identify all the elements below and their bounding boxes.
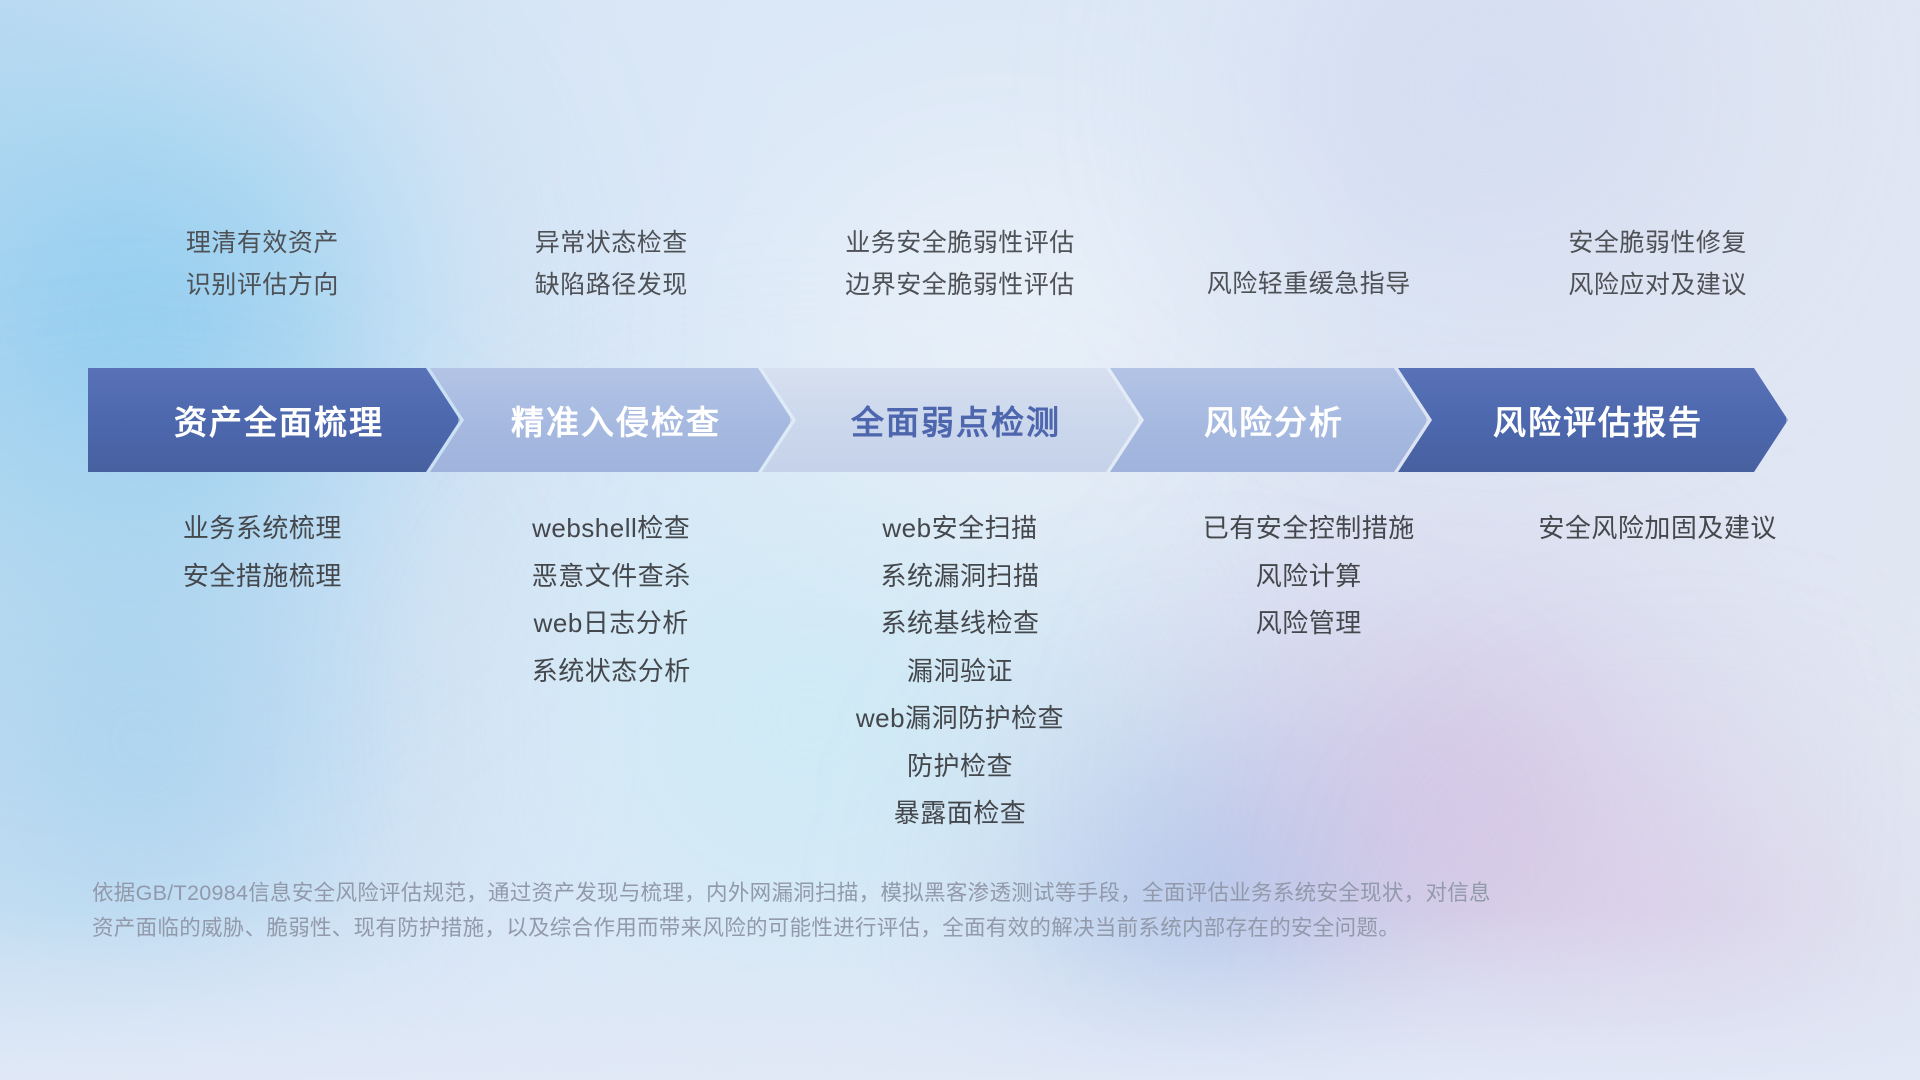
process-chevron-band: 资产全面梳理 精准入侵检查 全面弱点检测 风险分析 风险评估报告 [88, 368, 1848, 472]
bottom-column-5: 安全风险加固及建议 [1483, 512, 1832, 545]
bottom-column-3: web安全扫描 系统漏洞扫描 系统基线检查 漏洞验证 web漏洞防护检查 防护检… [786, 512, 1135, 830]
chevron-step-3-label: 全面弱点检测 [841, 396, 1061, 444]
list-item: 风险管理 [1256, 607, 1362, 640]
top-column-2: 异常状态检查 缺陷路径发现 [437, 228, 786, 348]
chevron-step-3[interactable]: 全面弱点检测 [762, 368, 1140, 472]
top-labels-row: 理清有效资产 识别评估方向 异常状态检查 缺陷路径发现 业务安全脆弱性评估 边界… [88, 228, 1832, 348]
top-item: 识别评估方向 [186, 270, 339, 300]
bottom-column-2: webshell检查 恶意文件查杀 web日志分析 系统状态分析 [437, 512, 786, 687]
chevron-step-1[interactable]: 资产全面梳理 [88, 368, 460, 472]
list-item: web漏洞防护检查 [856, 702, 1064, 735]
chevron-step-1-label: 资产全面梳理 [164, 396, 384, 444]
chevron-step-2-label: 精准入侵检查 [501, 396, 721, 444]
list-item: 业务系统梳理 [183, 512, 342, 545]
process-diagram: 理清有效资产 识别评估方向 异常状态检查 缺陷路径发现 业务安全脆弱性评估 边界… [0, 0, 1920, 1080]
list-item: 暴露面检查 [894, 797, 1027, 830]
top-column-1: 理清有效资产 识别评估方向 [88, 228, 437, 348]
list-item: 系统状态分析 [532, 655, 691, 688]
list-item: 安全措施梳理 [183, 560, 342, 593]
bottom-column-1: 业务系统梳理 安全措施梳理 [88, 512, 437, 592]
chevron-step-5-label: 风险评估报告 [1483, 396, 1703, 444]
top-column-5: 安全脆弱性修复 风险应对及建议 [1483, 228, 1832, 348]
list-item: web日志分析 [534, 607, 689, 640]
footer-description: 依据GB/T20984信息安全风险评估规范，通过资产发现与梳理，内外网漏洞扫描，… [92, 876, 1612, 947]
list-item: 已有安全控制措施 [1203, 512, 1415, 545]
top-column-3: 业务安全脆弱性评估 边界安全脆弱性评估 [786, 228, 1135, 348]
top-item: 异常状态检查 [535, 228, 688, 258]
chevron-step-2[interactable]: 精准入侵检查 [430, 368, 792, 472]
footer-line-1: 依据GB/T20984信息安全风险评估规范，通过资产发现与梳理，内外网漏洞扫描，… [92, 876, 1612, 911]
top-item: 业务安全脆弱性评估 [845, 228, 1075, 258]
list-item: 风险计算 [1256, 560, 1362, 593]
top-column-4: 风险轻重缓急指导 [1134, 228, 1483, 348]
bottom-column-4: 已有安全控制措施 风险计算 风险管理 [1134, 512, 1483, 640]
list-item: 安全风险加固及建议 [1538, 512, 1777, 545]
chevron-step-4-label: 风险分析 [1194, 396, 1344, 444]
chevron-step-5[interactable]: 风险评估报告 [1398, 368, 1788, 472]
list-item: 系统基线检查 [880, 607, 1039, 640]
list-item: web安全扫描 [882, 512, 1037, 545]
footer-line-2: 资产面临的威胁、脆弱性、现有防护措施，以及综合作用而带来风险的可能性进行评估，全… [92, 911, 1612, 946]
list-item: webshell检查 [532, 512, 690, 545]
top-item: 安全脆弱性修复 [1568, 228, 1747, 258]
list-item: 系统漏洞扫描 [880, 560, 1039, 593]
chevron-step-4[interactable]: 风险分析 [1110, 368, 1428, 472]
list-item: 恶意文件查杀 [532, 560, 691, 593]
top-item: 边界安全脆弱性评估 [845, 270, 1075, 300]
list-item: 防护检查 [907, 750, 1013, 783]
top-item: 理清有效资产 [186, 228, 339, 258]
bottom-labels-row: 业务系统梳理 安全措施梳理 webshell检查 恶意文件查杀 web日志分析 … [88, 512, 1832, 830]
top-item: 风险轻重缓急指导 [1207, 269, 1411, 299]
top-item: 风险应对及建议 [1568, 270, 1747, 300]
top-item: 缺陷路径发现 [535, 270, 688, 300]
list-item: 漏洞验证 [907, 655, 1013, 688]
